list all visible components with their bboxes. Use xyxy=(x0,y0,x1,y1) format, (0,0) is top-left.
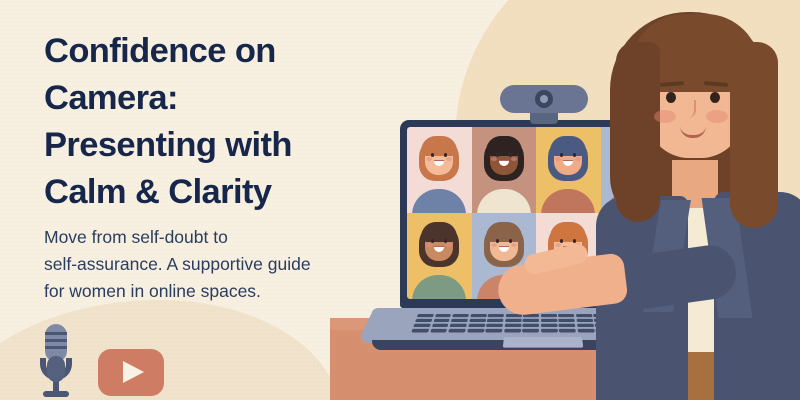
keyboard-key xyxy=(468,324,485,328)
participant-eye-right xyxy=(444,153,447,157)
page-subtitle: Move from self-doubt to self-assurance. … xyxy=(44,224,354,305)
keyboard-key xyxy=(451,319,468,323)
participant-torso xyxy=(541,189,595,213)
keyboard-key xyxy=(488,314,504,317)
participant-torso xyxy=(412,275,466,299)
banner: Confidence on Camera: Presenting with Ca… xyxy=(0,0,800,400)
keyboard-key xyxy=(523,319,539,323)
keyboard-key xyxy=(452,314,469,317)
presenter-eye-right xyxy=(710,92,720,103)
keyboard-key xyxy=(485,329,502,333)
presenter-blush-right xyxy=(706,110,728,123)
keyboard-key xyxy=(541,319,557,323)
presenter-illustration xyxy=(590,0,800,400)
keyboard-key xyxy=(448,329,466,333)
keyboard-key xyxy=(505,319,522,323)
page-title: Confidence on Camera: Presenting with Ca… xyxy=(44,28,394,216)
participant-eye-left xyxy=(431,153,434,157)
keyboard-key xyxy=(415,319,432,323)
video-participant-tile xyxy=(407,213,472,299)
participant-blush-left xyxy=(491,243,497,247)
keyboard-key xyxy=(523,324,540,328)
keyboard-key xyxy=(467,329,484,333)
keyboard-key xyxy=(541,314,557,317)
keyboard-key xyxy=(413,324,431,328)
keyboard-key xyxy=(558,314,574,317)
keyboard-key xyxy=(504,329,521,333)
keyboard-key xyxy=(417,314,434,317)
participant-hair-top xyxy=(550,222,586,242)
participant-hair-top xyxy=(486,222,522,242)
laptop-trackpad xyxy=(503,337,583,348)
participant-hair-top xyxy=(421,136,457,156)
participant-eye-right xyxy=(573,153,576,157)
participant-torso xyxy=(412,189,466,213)
keyboard-key xyxy=(486,324,503,328)
keyboard-key xyxy=(541,329,558,333)
participant-torso xyxy=(477,189,531,213)
participant-blush-left xyxy=(491,157,497,161)
participant-hair-top xyxy=(550,136,586,156)
participant-hair-top xyxy=(421,222,457,242)
keyboard-key xyxy=(433,319,450,323)
keyboard-key xyxy=(411,329,429,333)
keyboard-key xyxy=(450,324,467,328)
participant-eye-left xyxy=(560,239,563,243)
participant-hair-top xyxy=(486,136,522,156)
keyboard-key xyxy=(430,329,448,333)
video-participant-tile xyxy=(407,127,472,213)
microphone-icon xyxy=(27,322,85,400)
participant-blush-right xyxy=(511,243,517,247)
keyboard-key xyxy=(541,324,558,328)
keyboard-key xyxy=(559,329,576,333)
keyboard-key xyxy=(469,319,486,323)
keyboard-key xyxy=(487,319,504,323)
participant-eye-left xyxy=(496,153,499,157)
presenter-hair-left xyxy=(616,42,660,222)
participant-eye-right xyxy=(509,153,512,157)
participant-eye-right xyxy=(444,239,447,243)
participant-blush-right xyxy=(511,157,517,161)
participant-eye-left xyxy=(431,239,434,243)
keyboard-key xyxy=(522,329,539,333)
play-button-icon xyxy=(98,349,164,396)
webcam-mount xyxy=(530,112,558,124)
presenter-hair-right xyxy=(730,42,778,228)
keyboard-key xyxy=(434,314,451,317)
webcam-icon xyxy=(500,85,588,113)
presenter-blush-left xyxy=(654,110,676,123)
webcam-lens-inner xyxy=(540,95,548,103)
video-participant-tile xyxy=(472,127,537,213)
participant-eye-left xyxy=(496,239,499,243)
keyboard-key xyxy=(431,324,449,328)
keyboard-key xyxy=(559,324,576,328)
keyboard-key xyxy=(504,324,521,328)
participant-eye-right xyxy=(573,239,576,243)
participant-eye-right xyxy=(509,239,512,243)
keyboard-key xyxy=(559,319,576,323)
play-triangle-icon xyxy=(123,361,144,383)
participant-eye-left xyxy=(560,153,563,157)
presenter-eye-left xyxy=(666,92,676,103)
keyboard-key xyxy=(470,314,487,317)
